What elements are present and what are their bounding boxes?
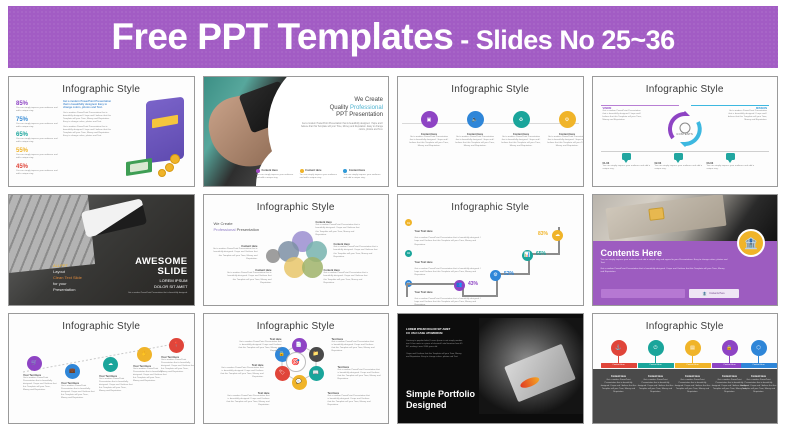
step-percent: 83% (538, 231, 548, 237)
pin-tag: Content Here (741, 363, 777, 368)
node-block: Your Text HereGet a modern PowerPoint Pr… (61, 382, 95, 400)
node-text: Get a modern PowerPoint Presentation tha… (61, 385, 95, 400)
item-text: Get a modern PowerPoint Presentation tha… (415, 237, 484, 246)
slide-thumbnail-12[interactable]: Infographic Style ⚓ Content Here Content… (592, 313, 779, 424)
step-percent: 65% (536, 251, 546, 257)
item-text: Get a modern PowerPoint Presentation tha… (500, 136, 542, 148)
callout: Content HereGet a modern PowerPoint Pres… (334, 243, 380, 258)
slide-6-headline: We Create Professional Presentation (214, 221, 270, 232)
node-text: Get a modern PowerPoint Presentation tha… (220, 367, 264, 379)
mission-block: MISSION Get a modern PowerPoint Presenta… (727, 107, 767, 122)
vision-text: Get a modern PowerPoint Presentation tha… (603, 110, 643, 122)
timeline-item: ▣ Content Here Get a modern PowerPoint P… (408, 111, 450, 148)
card-shape (605, 194, 726, 240)
pin-desc-text: Get a modern PowerPoint Presentation tha… (601, 379, 637, 393)
cart-icon: 🛒 (27, 356, 42, 371)
banknote-illustration (126, 158, 152, 176)
pin-desc-label: Content Here (648, 375, 663, 378)
timeline-item: ♻ Content Here Get a modern PowerPoint P… (500, 111, 542, 148)
step-percent: 52% (504, 271, 514, 277)
callout-text: Get a modern PowerPoint Presentation tha… (212, 248, 258, 260)
headline-3: PPT Presentation (295, 112, 383, 120)
item-text: Get a modern PowerPoint Presentation tha… (415, 268, 484, 277)
stat-row: 85%You can simply impress your audience … (16, 101, 58, 113)
mission-connector (691, 105, 769, 106)
node-text: Get a modern PowerPoint Presentation tha… (161, 359, 195, 374)
hand-icon: ✋ (137, 347, 152, 362)
banner-title-main: Free PPT Templates (111, 16, 453, 57)
pin-stem (758, 356, 760, 363)
coin-icon (158, 169, 166, 177)
stat-row: 75%You can simply impress your audience … (16, 117, 58, 129)
item-label: Your Text Here (415, 261, 433, 264)
banner-title: Free PPT Templates - Slides No 25~36 (111, 16, 674, 58)
bottom-item: 01-03 You can simply impress your audien… (603, 153, 651, 171)
content-column: Content Here You can simply impress your… (300, 169, 341, 181)
column-label: Content Here (305, 169, 321, 172)
header-banner: Free PPT Templates - Slides No 25~36 (8, 6, 778, 68)
slide-11-heading: LOREM IPSUM DOLOR SIT AMET CU USU CASE A… (406, 327, 468, 335)
heading-line-2: CU USU CASE ATOMORUM (406, 331, 468, 335)
slide-thumbnail-4[interactable]: Infographic Style VISION Get a modern Po… (592, 76, 779, 187)
cloud-icon: ☁ (103, 357, 118, 372)
cloud-icon: ☁ (552, 230, 563, 241)
title-line-2: Designed (406, 400, 475, 411)
list-item: 02Your Text HereGet a modern PowerPoint … (405, 250, 483, 277)
pin-stem (618, 356, 620, 363)
pin-desc: Content HereGet a modern PowerPoint Pres… (675, 375, 711, 394)
pin-item: ⬡ Content Here Content HereGet a modern … (741, 340, 777, 394)
pin-stem (729, 356, 731, 363)
chart-icon: 📊 (522, 250, 533, 261)
node-block: Text HereGet a modern PowerPoint Present… (332, 338, 376, 353)
power-icon: ⏻ (648, 340, 664, 356)
column-label: Content Here (349, 169, 365, 172)
slide-thumbnail-6[interactable]: Infographic Style We Create Professional… (203, 194, 390, 305)
slide-2-columns: Content Here You can simply impress your… (256, 169, 384, 181)
petal-shape (302, 257, 323, 278)
slide-thumbnail-9[interactable]: Infographic Style 🛒 💼 ☁ ✋ 📍 Your Text He… (8, 313, 195, 424)
shield-icon: ⬡ (751, 340, 767, 356)
presentation-icon: ▤ (685, 340, 701, 356)
stat-desc: You can simply impress your audience and… (16, 170, 58, 176)
anchor-icon: ⚓ (611, 340, 627, 356)
pin-item: ⏻ Content Here Content HereGet a modern … (638, 340, 674, 394)
speech-bubble-icon (622, 153, 631, 160)
pin-desc-label: Content Here (751, 375, 766, 378)
stat-desc: You can simply impress your audience and… (16, 123, 58, 129)
pin-tag: Content Here (675, 363, 711, 368)
petal-shape (266, 249, 280, 263)
step-percent: 43% (468, 281, 478, 287)
node-block: Text HereGet a modern PowerPoint Present… (226, 392, 270, 407)
slide-thumbnail-11[interactable]: LOREM IPSUM DOLOR SIT AMET CU USU CASE A… (397, 313, 584, 424)
gear-icon: ⚙ (490, 270, 501, 281)
lock-icon: 🔒 (722, 340, 738, 356)
item-text: Get a modern PowerPoint Presentation tha… (546, 136, 584, 148)
bullet-icon (300, 169, 304, 173)
slide-2-text-block: We Create Quality Professional PPT Prese… (295, 97, 383, 132)
slide-12-title: Infographic Style (593, 321, 778, 332)
stat-desc: You can simply impress your audience and… (16, 154, 58, 160)
pin-desc-text: Get a modern PowerPoint Presentation tha… (741, 379, 777, 393)
slide-7-list: 01Your Text HereGet a modern PowerPoint … (405, 219, 483, 305)
item-number: 02 (405, 250, 412, 257)
timeline-item: ⚙ Content Here Get a modern PowerPoint P… (546, 111, 584, 148)
node-block: Text HereGet a modern PowerPoint Present… (328, 392, 372, 407)
pin-desc-text: Get a modern PowerPoint Presentation tha… (638, 379, 674, 393)
pin-desc: Content HereGet a modern PowerPoint Pres… (741, 375, 777, 394)
bottom-item: 03-03 You can simply impress your audien… (707, 153, 755, 171)
bottom-item-text: You can simply impress your audience and… (707, 165, 755, 171)
headline-2b: Professional (350, 105, 383, 111)
awesome-title-2: SLIDE (110, 267, 188, 277)
slide-thumbnail-10[interactable]: Infographic Style 📄 📁 📖 💬 🏷 🔒 🎯 Text Her… (203, 313, 390, 424)
book-icon: 📖 (309, 366, 324, 381)
image-icon: ▣ (421, 111, 438, 128)
awesome-fine-print: Get a modern PowerPoint Presentation tha… (110, 292, 188, 295)
bullet-icon (256, 169, 260, 173)
contents-buttons: 🏦 Contents Here (601, 289, 739, 298)
callout: Content HereGet a modern PowerPoint Pres… (212, 245, 258, 260)
content-column: Content Here You can simply impress your… (256, 169, 297, 181)
card-chip-icon (648, 207, 664, 221)
callout-text: Get a modern PowerPoint Presentation tha… (316, 224, 362, 236)
stat-row: 65%You can simply impress your audience … (16, 132, 58, 144)
bag-icon: 💼 (65, 364, 80, 379)
speech-bubble-icon (674, 153, 683, 160)
node-text: Get a modern PowerPoint Presentation tha… (226, 395, 270, 407)
headline-1: We Create (295, 97, 383, 105)
pin-desc-label: Content Here (611, 375, 626, 378)
headline-2a: Quality (330, 105, 350, 111)
vision-block: VISION Get a modern PowerPoint Presentat… (603, 107, 643, 122)
callout: Content HereGet a modern PowerPoint Pres… (226, 269, 272, 284)
list-item: 01Your Text HereGet a modern PowerPoint … (405, 219, 483, 246)
callout-text: Get a modern PowerPoint Presentation tha… (324, 272, 370, 284)
chat-icon: 💬 (292, 375, 307, 390)
stat-row: 55%You can simply impress your audience … (16, 148, 58, 160)
awesome-subtitle-1: LOREM IPSUM (110, 278, 188, 283)
card-logo-icon (519, 375, 541, 390)
pin-desc: Content HereGet a modern PowerPoint Pres… (638, 375, 674, 394)
stat-row: 45%You can simply impress your audience … (16, 164, 58, 176)
slide-2-desc: Get a modern PowerPoint Presentation tha… (295, 123, 383, 132)
title-line-1: Simple Portfolio (406, 389, 475, 400)
slide-4-title: Infographic Style (593, 84, 778, 95)
ppt-template-gallery-page: Free PPT Templates - Slides No 25~36 Inf… (0, 0, 786, 430)
speech-bubble-icon (726, 153, 735, 160)
folder-icon: 📁 (309, 347, 324, 362)
bottom-item-text: You can simply impress your audience and… (603, 165, 651, 171)
paragraph-2: Get a modern PowerPoint Presentation tha… (601, 268, 729, 274)
headline-b: Professional (214, 227, 236, 232)
contents-heading: Contents Here (601, 248, 663, 258)
slide-6-title: Infographic Style (204, 202, 389, 213)
contents-button[interactable]: 🏦 Contents Here (689, 289, 739, 298)
target-icon: 🎯 (286, 352, 306, 372)
slide-7-title: Infographic Style (398, 202, 583, 213)
circular-arrow-diagram: CONTENTS (667, 111, 703, 147)
node-block: Text HereGet a modern PowerPoint Present… (338, 366, 382, 381)
pin-desc: Content HereGet a modern PowerPoint Pres… (601, 375, 637, 394)
pin-tag: Content Here (601, 363, 637, 368)
recycle-icon: ♻ (513, 111, 530, 128)
settings-icon: ⚙ (559, 111, 576, 128)
item-text: Get a modern PowerPoint Presentation tha… (415, 298, 484, 306)
slide-3-title: Infographic Style (398, 84, 583, 95)
pin-desc-label: Content Here (722, 375, 737, 378)
pin-stem (655, 356, 657, 363)
slide-thumbnail-1[interactable]: Infographic Style 85%You can simply impr… (8, 76, 195, 187)
node-block: Text HereGet a modern PowerPoint Present… (238, 338, 282, 353)
phone-illustration (146, 97, 184, 164)
stat-desc: You can simply impress your audience and… (16, 138, 58, 144)
node-text: Get a modern PowerPoint Presentation tha… (238, 341, 282, 353)
contents-center-label: CONTENTS (667, 133, 703, 136)
content-column: Content Here You can simply impress your… (343, 169, 384, 181)
slide-1-body-text: Get a modern PowerPoint Presentation tha… (63, 126, 115, 138)
pin-item: ⚓ Content Here Content HereGet a modern … (601, 340, 637, 394)
pin-stem (692, 356, 694, 363)
slide-grid: Infographic Style 85%You can simply impr… (8, 76, 778, 424)
slide-5-left-text: ALLPPT Layout Clean Text Slide for your … (53, 263, 109, 293)
arrow-segment (462, 295, 498, 297)
progress-bar (601, 289, 685, 298)
speaker-icon: 🔈 (467, 111, 484, 128)
arrow-segment (406, 283, 408, 297)
bottom-item: 02-03 You can simply impress your audien… (655, 153, 703, 171)
headline-2: Quality Professional (295, 105, 383, 113)
headline-c: Presentation (236, 227, 260, 232)
banner-title-sub: - Slides No 25~36 (453, 25, 674, 55)
paragraph-1: You can simply impress your audience and… (601, 259, 729, 265)
callout-text: Get a modern PowerPoint Presentation tha… (226, 272, 272, 284)
slide-11-title: Simple Portfolio Designed (406, 389, 475, 411)
item-text: Get a modern PowerPoint Presentation tha… (454, 136, 496, 148)
circular-arrows-svg (667, 111, 703, 147)
node-text: Get a modern PowerPoint Presentation tha… (23, 377, 57, 392)
bank-small-icon: 🏦 (702, 291, 707, 296)
contents-button-label: Contents Here (709, 292, 724, 295)
slide-thumbnail-5[interactable]: ALLPPT Layout Clean Text Slide for your … (8, 194, 195, 305)
vision-connector (601, 105, 679, 106)
node-text: Get a modern PowerPoint Presentation tha… (99, 378, 133, 393)
slide-1-body-heading: Get a modern PowerPoint Presentation tha… (63, 100, 115, 110)
callout: Content HereGet a modern PowerPoint Pres… (324, 269, 370, 284)
bullet-icon (343, 169, 347, 173)
coin-icon (165, 163, 174, 172)
item-number: 01 (405, 219, 412, 226)
bottom-axis (601, 151, 770, 152)
slide-thumbnail-3[interactable]: Infographic Style ▣ Content Here Get a m… (397, 76, 584, 187)
node-block: Your Text HereGet a modern PowerPoint Pr… (161, 356, 195, 374)
callout-text: Get a modern PowerPoint Presentation tha… (334, 246, 380, 258)
pin-tag: Content Here (638, 363, 674, 368)
timeline-item: 🔈 Content Here Get a modern PowerPoint P… (454, 111, 496, 148)
paragraph-1: Contrary to popular belief, Lorem Ipsum … (406, 340, 464, 349)
node-text: Get a modern PowerPoint Presentation tha… (332, 341, 376, 353)
item-text: Get a modern PowerPoint Presentation tha… (408, 136, 450, 148)
column-label: Content Here (262, 169, 278, 172)
item-label: Your Text Here (415, 291, 433, 294)
contents-paragraphs: You can simply impress your audience and… (601, 259, 729, 274)
slide-1-body: Get a modern PowerPoint Presentation tha… (63, 100, 115, 138)
slide-thumbnail-2[interactable]: We Create Quality Professional PPT Prese… (203, 76, 390, 187)
slide-thumbnail-8[interactable]: Contents Here You can simply impress you… (592, 194, 779, 305)
paragraph-2: I hope and I believe that this Template … (406, 353, 464, 359)
bottom-item-text: You can simply impress your audience and… (655, 165, 703, 171)
slide-1-title: Infographic Style (9, 84, 194, 95)
pin-desc-text: Get a modern PowerPoint Presentation tha… (675, 379, 711, 393)
callout: Content HereGet a modern PowerPoint Pres… (316, 221, 362, 236)
slide-1-body-text: Get a modern PowerPoint Presentation tha… (63, 112, 115, 124)
document-icon: 📄 (292, 338, 307, 353)
pin-icon: 📍 (169, 338, 184, 353)
slide-thumbnail-7[interactable]: Infographic Style 01Your Text HereGet a … (397, 194, 584, 305)
awesome-subtitle-2: DOLOR SIT AMET (110, 284, 188, 289)
column-text: You can simply impress your audience and… (256, 174, 297, 180)
node-text: Get a modern PowerPoint Presentation tha… (338, 369, 382, 381)
slide-1-stat-list: 85%You can simply impress your audience … (16, 101, 58, 179)
stat-desc: You can simply impress your audience and… (16, 107, 58, 113)
node-block: Your Text HereGet a modern PowerPoint Pr… (23, 374, 57, 392)
node-block: Text HereGet a modern PowerPoint Present… (220, 364, 264, 379)
column-text: You can simply impress your audience and… (300, 174, 341, 180)
slide-11-paragraphs: Contrary to popular belief, Lorem Ipsum … (406, 340, 464, 359)
item-label: Your Text Here (415, 230, 433, 233)
column-text: You can simply impress your audience and… (343, 174, 384, 180)
pin-desc-label: Content Here (685, 375, 700, 378)
node-text: Get a modern PowerPoint Presentation tha… (328, 395, 372, 407)
pin-item: ▤ Content Here Content HereGet a modern … (675, 340, 711, 394)
node-block: Your Text HereGet a modern PowerPoint Pr… (99, 375, 133, 393)
people-icon: 👥 (454, 280, 465, 291)
left-line: Presentation (53, 287, 109, 293)
mission-text: Get a modern PowerPoint Presentation tha… (727, 110, 767, 122)
slide-5-right-text: AWESOME SLIDE LOREM IPSUM DOLOR SIT AMET… (110, 257, 188, 295)
